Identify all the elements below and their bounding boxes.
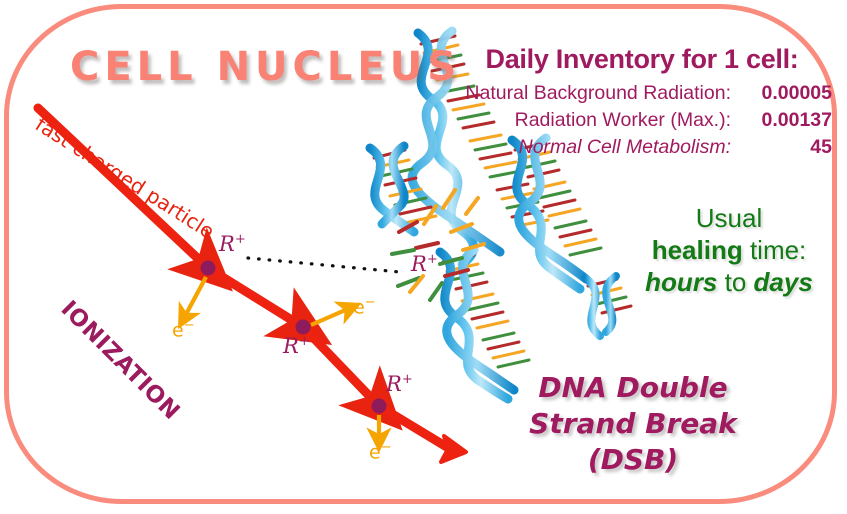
healing-hours-text: hours — [645, 267, 717, 297]
ion-label-text: R — [219, 232, 235, 256]
healing-time-text: time: — [743, 235, 807, 265]
figure-canvas: CELL NUCLEUS fast charged particle IONIZ… — [0, 0, 847, 514]
ion-dot-2 — [296, 320, 311, 335]
healing-to-text: to — [717, 267, 753, 297]
electron-label-text: e — [172, 319, 184, 341]
dsb-caption-line-1: DNA Double — [498, 370, 768, 406]
inventory-row-label: Radiation Worker (Max.): — [515, 109, 740, 132]
dsb-caption: DNA Double Strand Break (DSB) — [498, 370, 768, 477]
ion-label-3: R+ — [386, 372, 413, 396]
electron-arrows — [184, 277, 379, 440]
electron-label-sup: − — [184, 318, 195, 333]
electron-arrow-1 — [184, 277, 206, 318]
ion-label-sup: + — [235, 232, 246, 247]
healing-time-block: Usual healing time: hours to days — [618, 202, 840, 299]
healing-usual-text: Usual — [696, 203, 762, 233]
dsb-caption-line-3: (DSB) — [498, 442, 768, 478]
ion-label-1: R+ — [219, 232, 246, 256]
healing-keyword: healing — [652, 235, 743, 265]
inventory-row-value: 45 — [740, 136, 832, 159]
inventory-row: Normal Cell Metabolism: 45 — [452, 136, 832, 159]
dsb-caption-line-2: Strand Break — [498, 406, 768, 442]
inventory-row-label: Normal Cell Metabolism: — [519, 136, 740, 159]
inventory-row-value: 0.00137 — [740, 109, 832, 132]
healing-line-3: hours to days — [618, 266, 840, 298]
inventory-row-value: 0.00005 — [740, 82, 832, 105]
daily-inventory-block: Daily Inventory for 1 cell: Natural Back… — [452, 44, 832, 163]
page-title: CELL NUCLEUS — [70, 44, 461, 90]
electron-label-2: e− — [353, 295, 376, 318]
ion-dot-1 — [201, 261, 216, 276]
inventory-row-label: Natural Background Radiation: — [465, 82, 740, 105]
healing-line-1: Usual — [618, 202, 840, 234]
ion-dot-3 — [372, 399, 387, 414]
inventory-row: Natural Background Radiation: 0.00005 — [452, 82, 832, 105]
electron-label-1: e− — [172, 318, 195, 341]
electron-label-3: e− — [369, 440, 392, 463]
healing-days-text: days — [754, 267, 813, 297]
ion-label-2: R+ — [283, 334, 310, 358]
ion-label-dsb: R+ — [411, 252, 438, 276]
healing-line-2: healing time: — [618, 234, 840, 266]
inventory-row: Radiation Worker (Max.): 0.00137 — [452, 109, 832, 132]
dsb-connector-dotted — [248, 258, 400, 272]
inventory-title: Daily Inventory for 1 cell: — [452, 44, 832, 75]
electron-arrow-2 — [311, 308, 350, 325]
